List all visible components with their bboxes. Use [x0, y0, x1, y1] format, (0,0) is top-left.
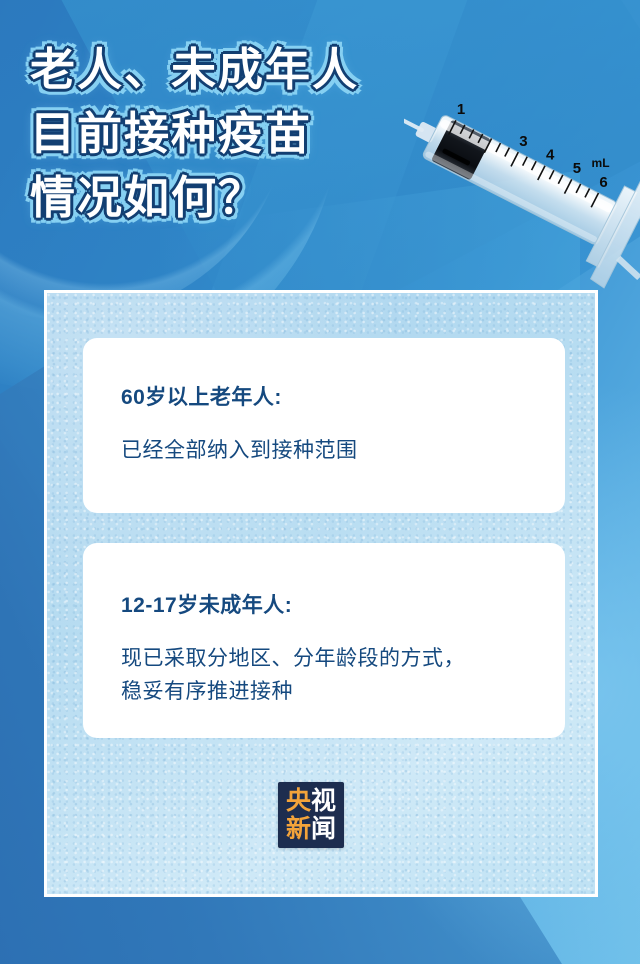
card-elderly: 60岁以上老年人: 已经全部纳入到接种范围	[83, 338, 565, 513]
logo-line-1: 央 视	[286, 789, 336, 814]
card-minors-body-line-1: 现已采取分地区、分年龄段的方式，	[121, 643, 465, 676]
card-elderly-body-line-1: 已经全部纳入到接种范围	[121, 435, 358, 468]
logo-char-wen: 闻	[311, 817, 336, 842]
headline-line-1: 老人、未成年人	[30, 38, 500, 102]
logo-char-yang: 央	[286, 789, 311, 814]
card-minors-body: 现已采取分地区、分年龄段的方式， 稳妥有序推进接种	[121, 643, 465, 708]
headline-line-3: 情况如何？	[30, 166, 500, 230]
logo-char-xin: 新	[286, 817, 311, 842]
headline: 老人、未成年人 目前接种疫苗 情况如何？	[30, 38, 500, 230]
card-elderly-title: 60岁以上老年人:	[121, 385, 282, 410]
card-minors: 12-17岁未成年人: 现已采取分地区、分年龄段的方式， 稳妥有序推进接种	[83, 543, 565, 738]
cctv-news-logo: 央 视 新 闻	[278, 782, 344, 848]
card-elderly-body: 已经全部纳入到接种范围	[121, 435, 358, 468]
logo-line-2: 新 闻	[286, 817, 336, 842]
poster-root: 1 3 4 5 6 mL 老人、未成年人 目前接种疫苗 情况如何？ 60岁以上老…	[0, 0, 640, 964]
card-minors-title: 12-17岁未成年人:	[121, 593, 292, 618]
logo-char-shi: 视	[311, 789, 336, 814]
headline-line-2: 目前接种疫苗	[30, 102, 500, 166]
card-minors-body-line-2: 稳妥有序推进接种	[121, 676, 465, 709]
